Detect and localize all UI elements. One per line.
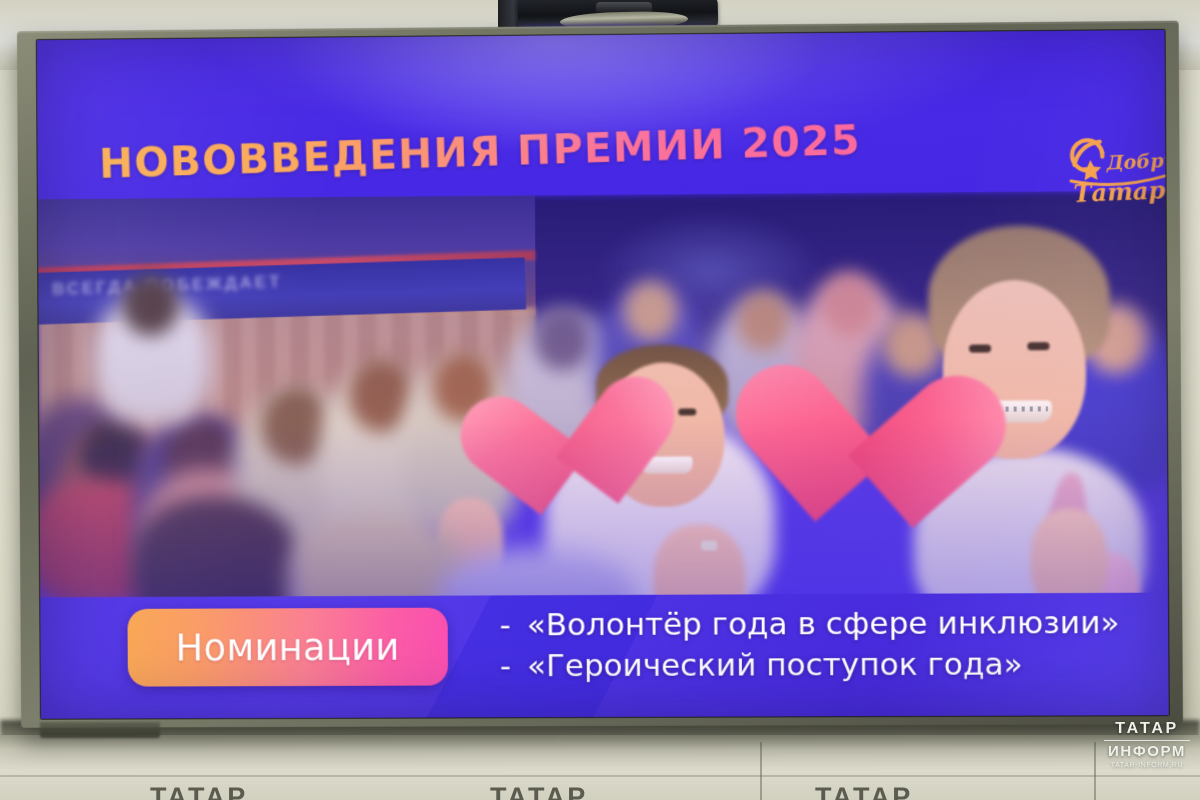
svg-text:Добрый: Добрый bbox=[1105, 149, 1169, 175]
nominations-pill-label: Номинации bbox=[176, 625, 400, 669]
right-person-eye bbox=[969, 344, 991, 352]
page-title: НОВОВВЕДЕНИЯ ПРЕМИИ 2025 bbox=[98, 116, 861, 188]
wall-seam-vertical bbox=[760, 742, 762, 800]
right-person-eye bbox=[1027, 342, 1049, 350]
foreground-head bbox=[131, 497, 301, 608]
brand-logo: Добрый Татарстан bbox=[1055, 126, 1169, 216]
watermark-line-1: ТАТАР bbox=[1104, 720, 1190, 738]
wall-sign-text: ТАТАР bbox=[490, 782, 588, 800]
presentation-slide: ВСЕГДА ПОБЕЖДАЕТ bbox=[37, 30, 1169, 719]
wall-seam-vertical bbox=[1094, 742, 1096, 800]
watermark-rule bbox=[1104, 740, 1190, 741]
crowd-head bbox=[820, 271, 879, 338]
center-person-eye bbox=[678, 408, 696, 415]
ring-icon bbox=[701, 540, 717, 550]
wall-sign-text: ТАТАР bbox=[150, 782, 248, 800]
photo-content: ВСЕГДА ПОБЕЖДАЕТ bbox=[38, 191, 1168, 608]
nomination-item: - «Героический поступок года» bbox=[500, 644, 1163, 687]
nominations-list: - «Волонтёр года в сфере инклюзии» - «Ге… bbox=[500, 603, 1163, 688]
crowd-head bbox=[736, 290, 793, 352]
nomination-item: - «Волонтёр года в сфере инклюзии» bbox=[500, 603, 1163, 647]
heart-balloon-small bbox=[451, 385, 621, 555]
watermark-line-2: ИНФОРМ bbox=[1104, 743, 1190, 760]
heart-balloon-large bbox=[721, 366, 919, 564]
bullet-dash-icon: - bbox=[500, 646, 511, 687]
crowd-head bbox=[534, 307, 592, 371]
wall-seam-horizontal bbox=[0, 775, 1200, 777]
tv-screen: ВСЕГДА ПОБЕЖДАЕТ bbox=[37, 30, 1169, 719]
nominations-pill: Номинации bbox=[127, 608, 448, 687]
watermark: ТАТАР ИНФОРМ TATAR-INFORM.RU bbox=[1104, 720, 1190, 769]
tv-wall-mount bbox=[40, 722, 160, 738]
nomination-text: «Волонтёр года в сфере инклюзии» bbox=[527, 603, 1120, 646]
watermark-url: TATAR-INFORM.RU bbox=[1104, 762, 1190, 769]
tv-bezel: ВСЕГДА ПОБЕЖДАЕТ bbox=[17, 21, 1183, 728]
room-scene: ТАТАР ТАТАР ТАТАР ВСЕГДА ПОБЕЖДАЕТ bbox=[0, 0, 1200, 800]
bullet-dash-icon: - bbox=[500, 605, 511, 646]
nomination-text: «Героический поступок года» bbox=[527, 644, 1023, 687]
crowd-head bbox=[623, 280, 677, 340]
slide-photo: ВСЕГДА ПОБЕЖДАЕТ bbox=[38, 191, 1168, 608]
wall-sign-text: ТАТАР bbox=[815, 782, 913, 800]
crowd-head bbox=[121, 274, 179, 336]
